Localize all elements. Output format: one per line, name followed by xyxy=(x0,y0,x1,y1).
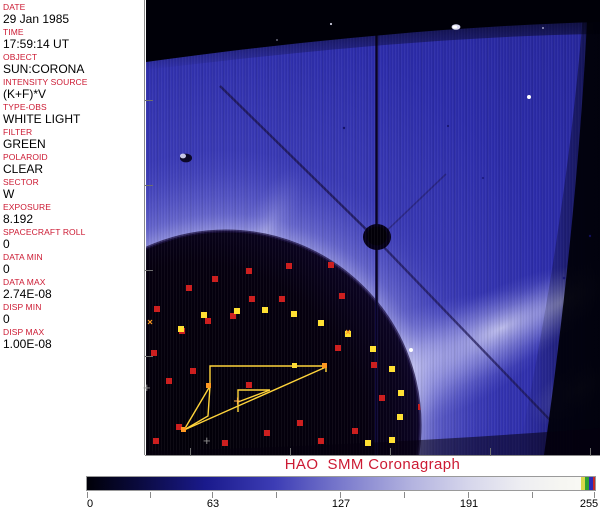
metadata-field-spacecraft-roll: SPACECRAFT ROLL 0 xyxy=(3,227,144,251)
metadata-value: 8.192 xyxy=(3,212,144,226)
metadata-field-disp-min: DISP MIN 0 xyxy=(3,302,144,326)
colorbar-tick xyxy=(532,492,533,498)
metadata-value: WHITE LIGHT xyxy=(3,112,144,126)
metadata-label: DATE xyxy=(3,2,144,12)
colorbar-tick-label: 255 xyxy=(580,498,598,511)
metadata-field-type-obs: TYPE-OBS WHITE LIGHT xyxy=(3,102,144,126)
metadata-field-exposure: EXPOSURE 8.192 xyxy=(3,202,144,226)
coronagraph-viewer: DATE 29 Jan 1985 TIME 17:59:14 UT OBJECT… xyxy=(0,0,600,512)
coronagraph-raster-svg xyxy=(146,0,600,455)
metadata-value: SUN:CORONA xyxy=(3,62,144,76)
coronagraph-image[interactable] xyxy=(146,0,600,455)
colorbar-tick xyxy=(150,492,151,498)
metadata-value: 1.00E-08 xyxy=(3,337,144,351)
metadata-label: SPACECRAFT ROLL xyxy=(3,227,144,237)
metadata-field-data-min: DATA MIN 0 xyxy=(3,252,144,276)
colorbar-tick-label: 63 xyxy=(207,498,219,511)
metadata-field-date: DATE 29 Jan 1985 xyxy=(3,2,144,26)
metadata-value: 2.74E-08 xyxy=(3,287,144,301)
colorbar-tick-label: 127 xyxy=(332,498,350,511)
colorbar-axis: 0 63 127 191 255 xyxy=(86,492,596,512)
metadata-label: EXPOSURE xyxy=(3,202,144,212)
metadata-field-disp-max: DISP MAX 1.00E-08 xyxy=(3,327,144,351)
metadata-label: INTENSITY SOURCE xyxy=(3,77,144,87)
metadata-value: W xyxy=(3,187,144,201)
colorbar-tick xyxy=(276,492,277,498)
colorbar-gradient[interactable] xyxy=(86,476,596,491)
page-title: HAO SMM Coronagraph xyxy=(145,456,600,474)
metadata-field-sector: SECTOR W xyxy=(3,177,144,201)
metadata-label: SECTOR xyxy=(3,177,144,187)
metadata-field-object: OBJECT SUN:CORONA xyxy=(3,52,144,76)
colorbar-tick-label: 191 xyxy=(460,498,478,511)
metadata-label: DISP MAX xyxy=(3,327,144,337)
metadata-field-data-max: DATA MAX 2.74E-08 xyxy=(3,277,144,301)
metadata-label: OBJECT xyxy=(3,52,144,62)
metadata-field-intensity-source: INTENSITY SOURCE (K+F)*V xyxy=(3,77,144,101)
metadata-label: FILTER xyxy=(3,127,144,137)
metadata-label: DATA MIN xyxy=(3,252,144,262)
metadata-value: 0 xyxy=(3,262,144,276)
sky-raster xyxy=(146,0,600,455)
colorbar-tail-band-red xyxy=(593,477,596,490)
metadata-value: (K+F)*V xyxy=(3,87,144,101)
metadata-label: TYPE-OBS xyxy=(3,102,144,112)
metadata-value: 0 xyxy=(3,312,144,326)
metadata-field-time: TIME 17:59:14 UT xyxy=(3,27,144,51)
colorbar-widget[interactable]: 0 63 127 191 255 xyxy=(86,476,596,512)
metadata-sidebar: DATE 29 Jan 1985 TIME 17:59:14 UT OBJECT… xyxy=(0,0,145,455)
metadata-label: POLAROID xyxy=(3,152,144,162)
colorbar-ramp xyxy=(87,477,581,490)
metadata-value: CLEAR xyxy=(3,162,144,176)
colorbar-tick xyxy=(404,492,405,498)
metadata-field-polaroid: POLAROID CLEAR xyxy=(3,152,144,176)
metadata-label: TIME xyxy=(3,27,144,37)
metadata-label: DISP MIN xyxy=(3,302,144,312)
metadata-value: 29 Jan 1985 xyxy=(3,12,144,26)
metadata-value: 0 xyxy=(3,237,144,251)
metadata-value: GREEN xyxy=(3,137,144,151)
colorbar-tick-label: 0 xyxy=(87,498,93,511)
metadata-label: DATA MAX xyxy=(3,277,144,287)
metadata-field-filter: FILTER GREEN xyxy=(3,127,144,151)
metadata-value: 17:59:14 UT xyxy=(3,37,144,51)
